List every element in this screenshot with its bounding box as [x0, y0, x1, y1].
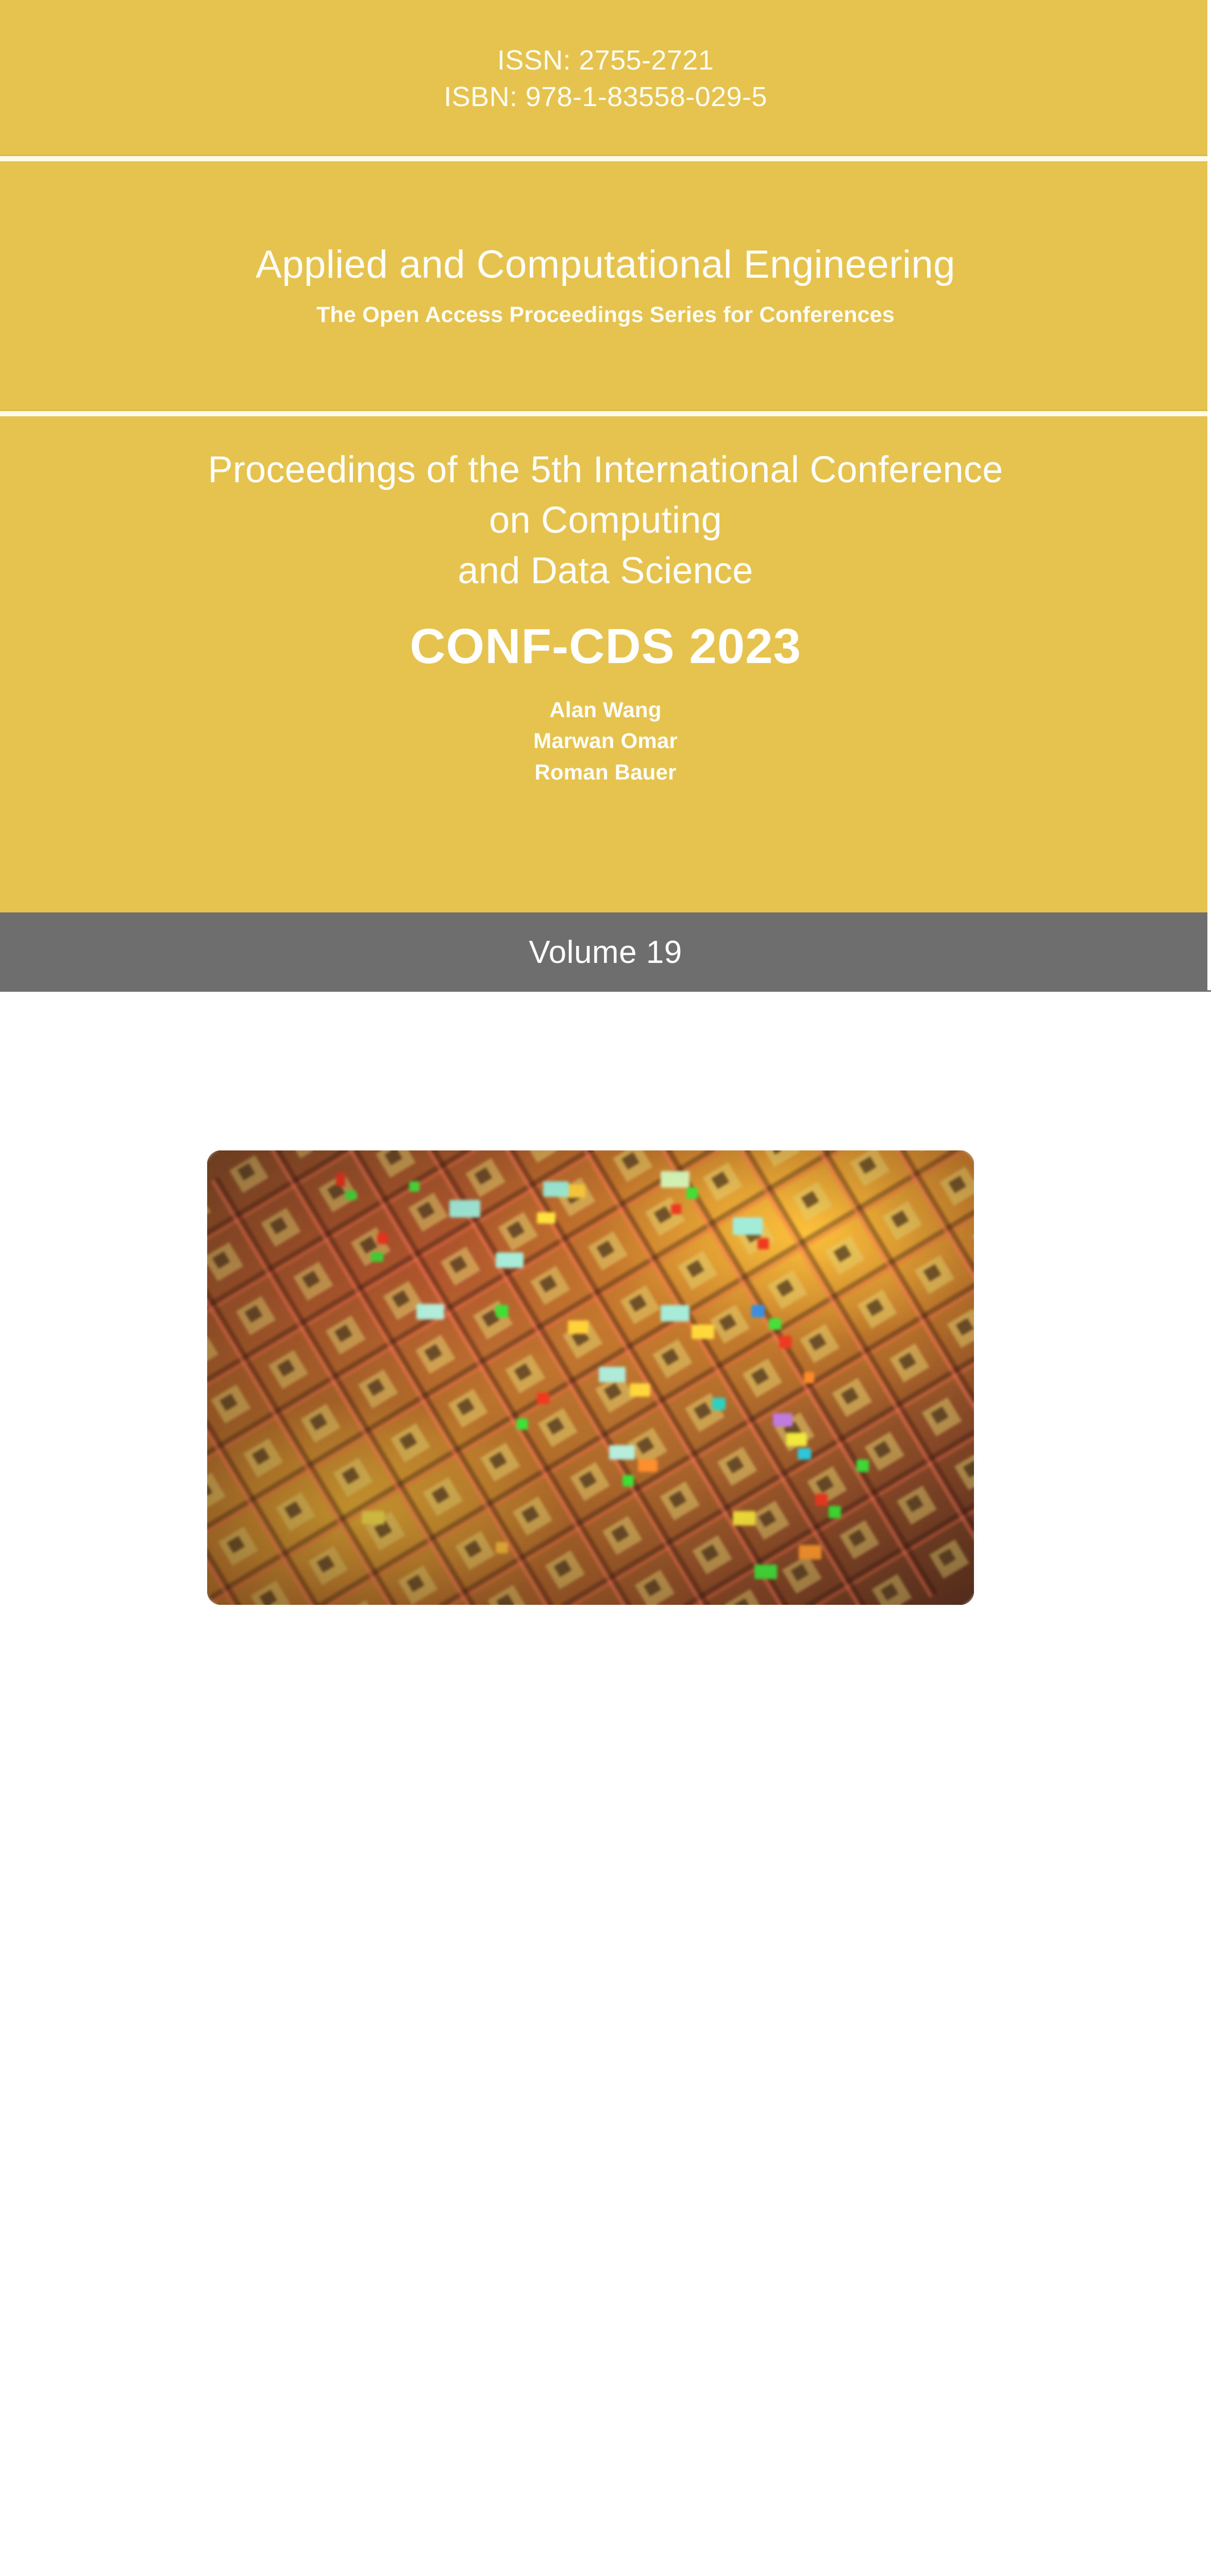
issn-text: ISSN: 2755-2721 [497, 42, 714, 79]
isbn-text: ISBN: 978-1-83558-029-5 [444, 79, 767, 115]
editor-list: Alan Wang Marwan Omar Roman Bauer [533, 694, 678, 788]
conference-title-line-3: and Data Science [458, 546, 753, 597]
identifiers-band: ISSN: 2755-2721 ISBN: 978-1-83558-029-5 [0, 0, 1211, 155]
volume-band: Volume 19 [0, 912, 1211, 992]
divider-rule-top [0, 156, 1211, 161]
editor-name: Alan Wang [549, 694, 661, 725]
chip-diffraction-specks [207, 1150, 974, 1605]
series-subtitle: The Open Access Proceedings Series for C… [316, 302, 895, 328]
series-title: Applied and Computational Engineering [256, 243, 955, 286]
conference-band: Proceedings of the 5th International Con… [0, 416, 1211, 912]
page-right-edge [1207, 0, 1211, 990]
conference-acronym: CONF-CDS 2023 [410, 618, 801, 675]
editor-name: Roman Bauer [534, 757, 676, 788]
book-cover: ISSN: 2755-2721 ISBN: 978-1-83558-029-5 … [0, 0, 1211, 1803]
lower-white-area: EWA Publishing [0, 992, 1211, 1803]
divider-rule-bottom [0, 411, 1211, 416]
series-band: Applied and Computational Engineering Th… [0, 161, 1211, 410]
cover-photo [207, 1150, 974, 1605]
conference-title-line-2: on Computing [489, 496, 722, 546]
editor-name: Marwan Omar [533, 725, 678, 756]
conference-title-line-1: Proceedings of the 5th International Con… [208, 445, 1003, 496]
volume-label: Volume 19 [529, 934, 682, 971]
